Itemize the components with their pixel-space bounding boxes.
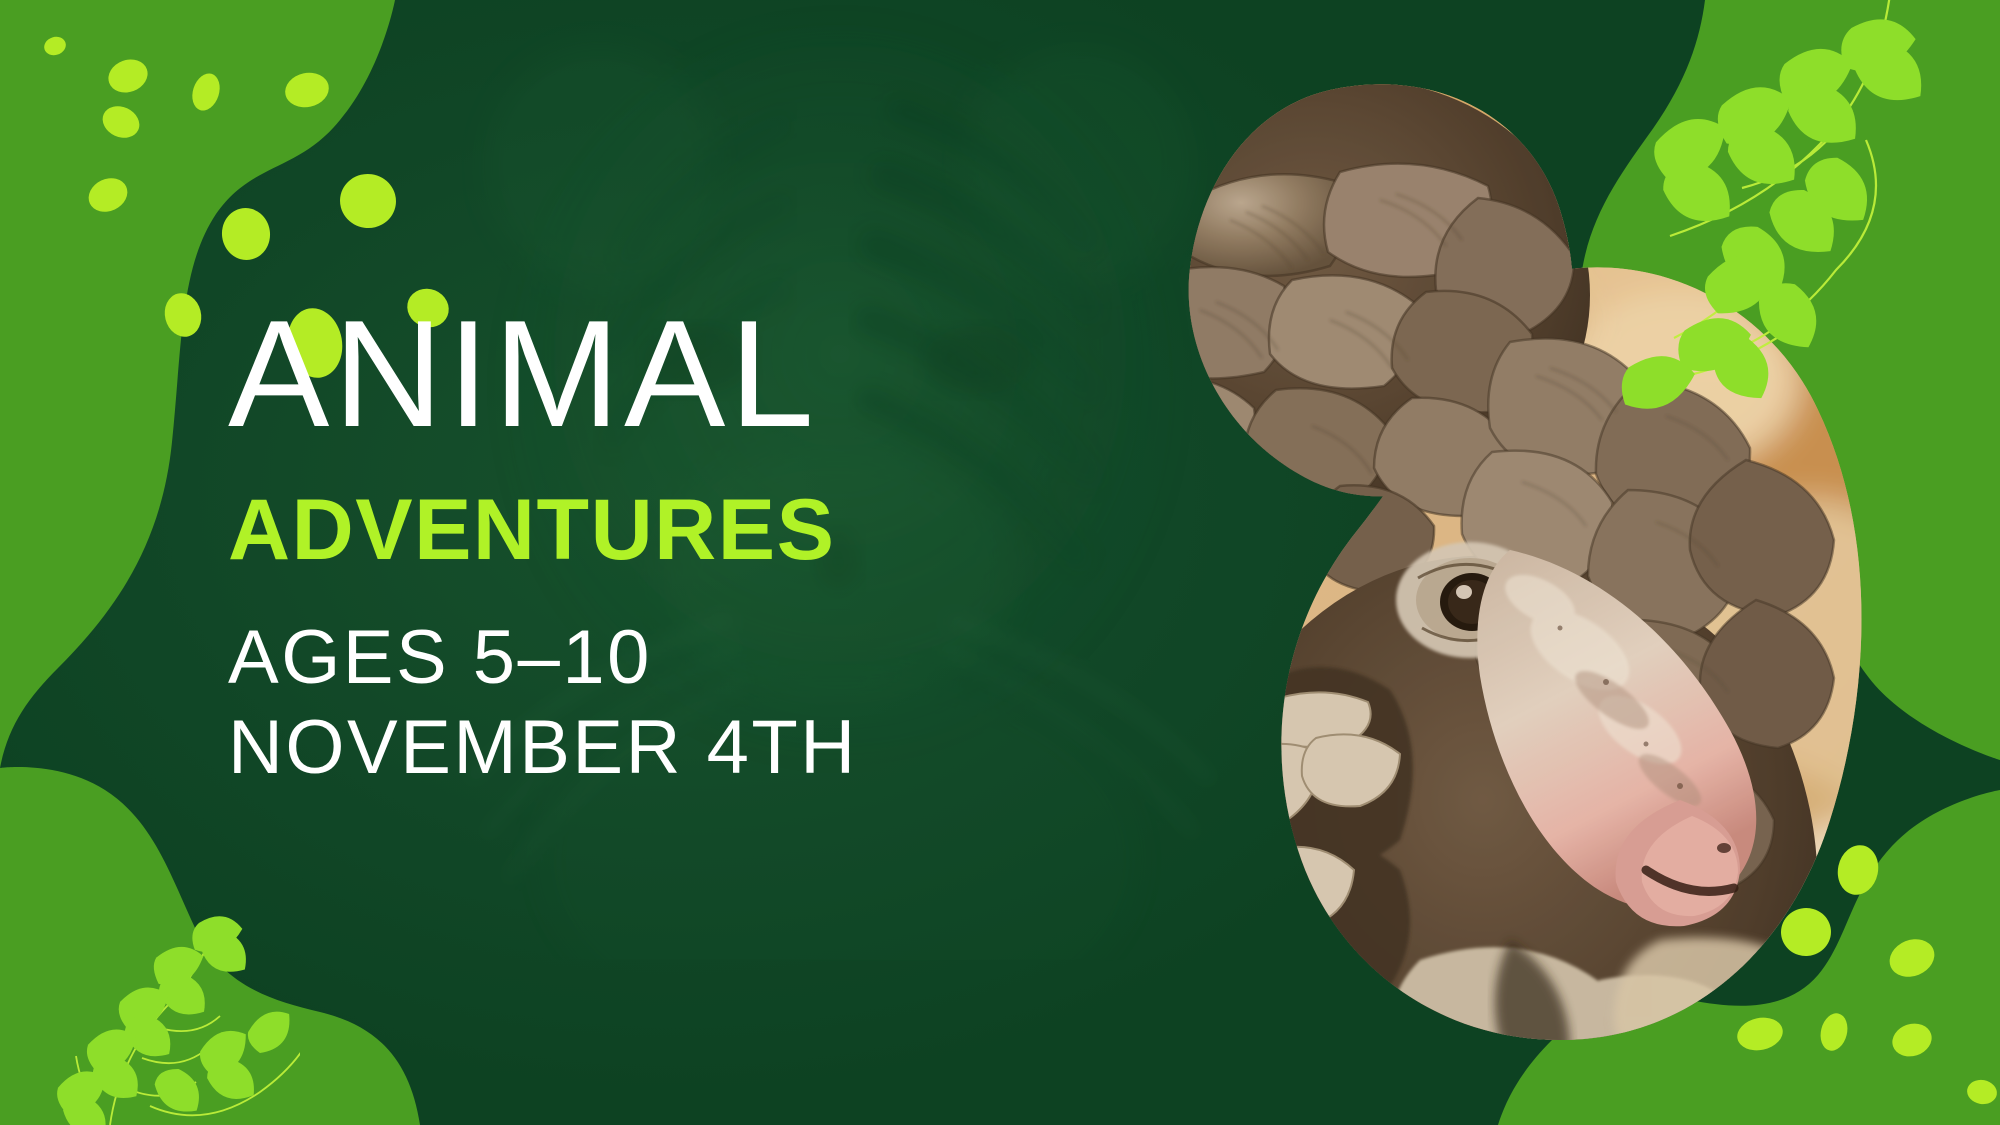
banner-details: AGES 5–10 NOVEMBER 4TH — [228, 613, 1088, 792]
age-range-text: AGES 5–10 — [228, 613, 1088, 703]
banner-text-block: ANIMAL ADVENTURES AGES 5–10 NOVEMBER 4TH — [228, 300, 1088, 792]
leafy-sprig-bottom-left-icon — [50, 910, 300, 1125]
event-date-text: NOVEMBER 4TH — [228, 703, 1088, 793]
page-title: ANIMAL — [228, 300, 1088, 449]
banner-subtitle: ADVENTURES — [228, 487, 1088, 573]
promo-banner: ANIMAL ADVENTURES AGES 5–10 NOVEMBER 4TH — [0, 0, 2000, 1125]
leafy-branch-top-right-icon — [1590, 0, 2000, 410]
